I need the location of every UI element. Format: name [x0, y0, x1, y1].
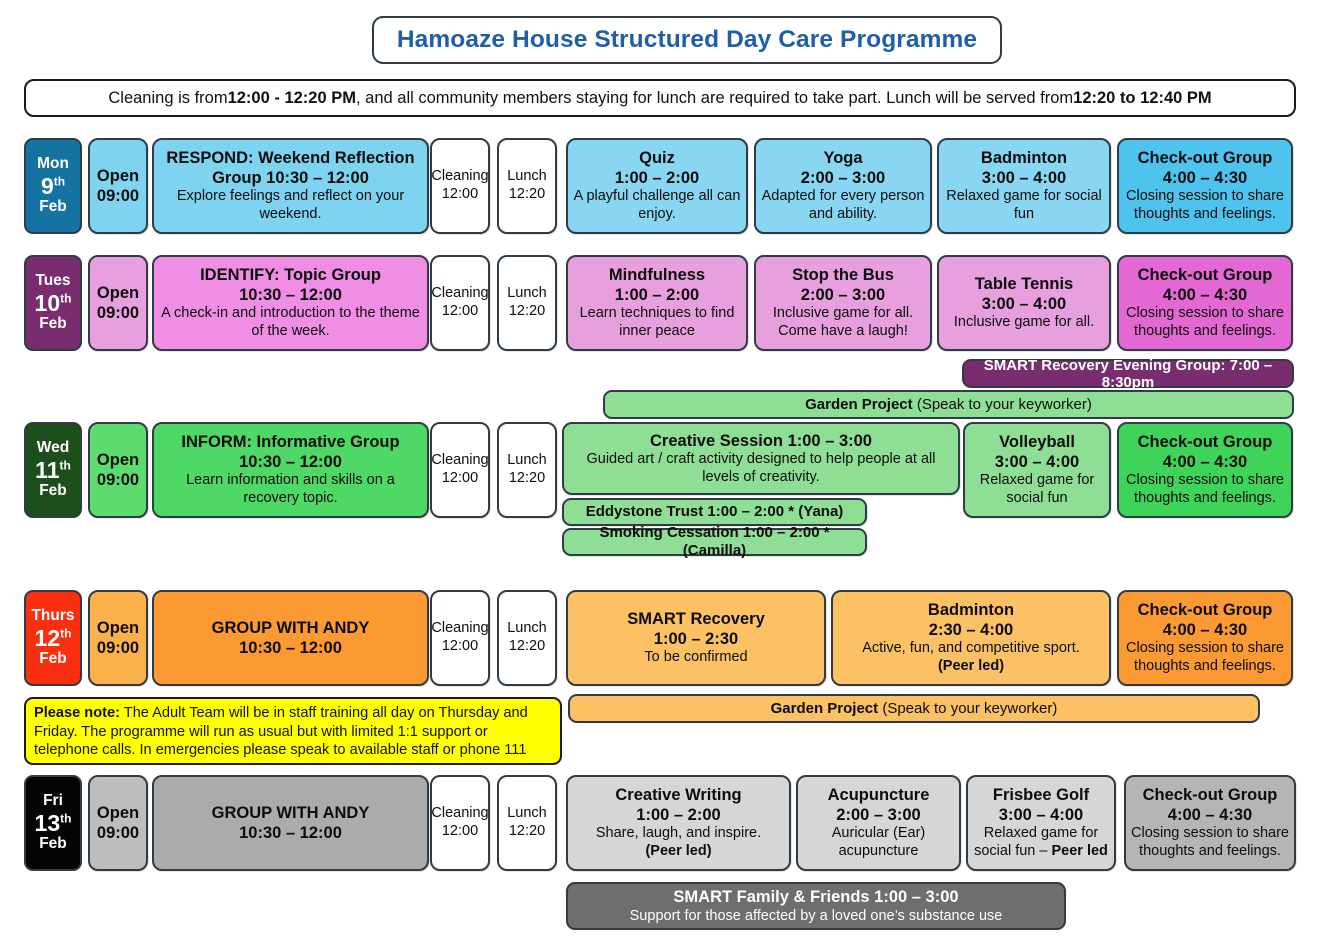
fri-open-card[interactable]: Open 09:00 [88, 775, 148, 871]
lunch-time: 12:20 [509, 823, 545, 841]
wed-subbar-smoking[interactable]: Smoking Cessation 1:00 – 2:00 * (Camilla… [562, 528, 867, 556]
wed-session-volleyball[interactable]: Volleyball 3:00 – 4:00 Relaxed game for … [963, 422, 1111, 518]
session-title: Check-out Group [1138, 600, 1273, 620]
mon-session-2[interactable]: Yoga 2:00 – 3:00 Adapted for every perso… [754, 138, 932, 234]
fri-lunch-card[interactable]: Lunch 12:20 [497, 775, 557, 871]
session-desc: Relaxed game for social fun – Peer led [973, 825, 1109, 860]
day-chip-wed: Wed 11th Feb [24, 422, 82, 518]
session-title: Quiz [639, 148, 675, 168]
day-chip-mon: Mon 9th Feb [24, 138, 82, 234]
page-title: Hamoaze House Structured Day Care Progra… [372, 16, 1002, 64]
session-time: 10:30 – 12:00 [239, 823, 342, 843]
day-chip-dow: Mon [37, 156, 69, 173]
session-title: Volleyball [999, 432, 1075, 452]
session-title: INFORM: Informative Group [181, 432, 399, 452]
open-time: 09:00 [97, 470, 139, 490]
cleaning-label: Cleaning [431, 285, 488, 303]
tue-lunch-card[interactable]: Lunch 12:20 [497, 255, 557, 351]
session-time: 2:00 – 3:00 [801, 285, 885, 305]
session-desc: Learn information and skills on a recove… [159, 472, 422, 507]
family-bar-title: SMART Family & Friends 1:00 – 3:00 [673, 887, 958, 908]
session-title: Yoga [823, 148, 862, 168]
cleaning-label: Cleaning [431, 620, 488, 638]
session-time: 4:00 – 4:30 [1163, 285, 1247, 305]
thu-cleaning-card[interactable]: Cleaning 12:00 [430, 590, 490, 686]
wed-morning-group[interactable]: INFORM: Informative Group 10:30 – 12:00 … [152, 422, 429, 518]
lunch-label: Lunch [507, 452, 547, 470]
session-desc: Auricular (Ear) acupuncture [803, 825, 954, 860]
day-chip-number: 10th [35, 291, 72, 316]
tue-checkout-group[interactable]: Check-out Group 4:00 – 4:30 Closing sess… [1117, 255, 1293, 351]
subbar-label: Eddystone Trust 1:00 – 2:00 * (Yana) [586, 503, 844, 521]
session-desc: Learn techniques to find inner peace [573, 305, 741, 340]
session-desc: Closing session to share thoughts and fe… [1131, 825, 1289, 860]
programme-poster: Hamoaze House Structured Day Care Progra… [0, 0, 1323, 946]
tue-morning-group[interactable]: IDENTIFY: Topic Group 10:30 – 12:00 A ch… [152, 255, 429, 351]
thu-session-badminton[interactable]: Badminton 2:30 – 4:00 Active, fun, and c… [831, 590, 1111, 686]
tue-session-1[interactable]: Mindfulness 1:00 – 2:00 Learn techniques… [566, 255, 748, 351]
lunch-label: Lunch [507, 620, 547, 638]
thu-garden-project-bar[interactable]: Garden Project (Speak to your keyworker) [568, 694, 1260, 723]
mon-cleaning-card[interactable]: Cleaning 12:00 [430, 138, 490, 234]
lunch-time: 12:20 [509, 470, 545, 488]
session-desc: Inclusive game for all. [954, 314, 1094, 332]
cleaning-time: 12:00 [442, 303, 478, 321]
mon-checkout-group[interactable]: Check-out Group 4:00 – 4:30 Closing sess… [1117, 138, 1293, 234]
wed-open-card[interactable]: Open 09:00 [88, 422, 148, 518]
fri-session-frisbee-golf[interactable]: Frisbee Golf 3:00 – 4:00 Relaxed game fo… [966, 775, 1116, 871]
thu-session-smart[interactable]: SMART Recovery 1:00 – 2:30 To be confirm… [566, 590, 826, 686]
garden-rest: (Speak to your keyworker) [913, 396, 1092, 413]
mon-session-1[interactable]: Quiz 1:00 – 2:00 A playful challenge all… [566, 138, 748, 234]
tue-open-card[interactable]: Open 09:00 [88, 255, 148, 351]
session-title: Acupuncture [828, 785, 930, 805]
session-desc: Closing session to share thoughts and fe… [1124, 472, 1286, 507]
garden-bold: Garden Project [771, 700, 879, 717]
session-title: Table Tennis [975, 274, 1073, 294]
thu-checkout-group[interactable]: Check-out Group 4:00 – 4:30 Closing sess… [1117, 590, 1293, 686]
tue-cleaning-card[interactable]: Cleaning 12:00 [430, 255, 490, 351]
lunch-label: Lunch [507, 285, 547, 303]
wed-cleaning-card[interactable]: Cleaning 12:00 [430, 422, 490, 518]
wed-checkout-group[interactable]: Check-out Group 4:00 – 4:30 Closing sess… [1117, 422, 1293, 518]
session-time: 4:00 – 4:30 [1163, 168, 1247, 188]
session-desc: Closing session to share thoughts and fe… [1124, 188, 1286, 223]
session-time: 3:00 – 4:00 [982, 294, 1066, 314]
session-time: 10:30 – 12:00 [239, 638, 342, 658]
tue-session-3[interactable]: Table Tennis 3:00 – 4:00 Inclusive game … [937, 255, 1111, 351]
session-time: 1:00 – 2:00 [615, 168, 699, 188]
session-time: 10:30 – 12:00 [239, 452, 342, 472]
open-time: 09:00 [97, 303, 139, 323]
session-title: IDENTIFY: Topic Group [200, 265, 381, 285]
thu-open-card[interactable]: Open 09:00 [88, 590, 148, 686]
open-label: Open [97, 166, 139, 186]
session-title: Creative Session 1:00 – 3:00 [650, 431, 872, 451]
tue-evening-smart-bar[interactable]: SMART Recovery Evening Group: 7:00 – 8:3… [962, 359, 1294, 388]
day-chip-tue: Tues 10th Feb [24, 255, 82, 351]
open-label: Open [97, 803, 139, 823]
session-time: 3:00 – 4:00 [982, 168, 1066, 188]
session-title: Creative Writing [615, 785, 741, 805]
lunch-time: 12:20 [509, 303, 545, 321]
notice-bold-lunch: 12:20 to 12:40 PM [1073, 89, 1211, 108]
session-desc: A check-in and introduction to the theme… [159, 305, 422, 340]
session-desc: Active, fun, and competitive sport. [862, 640, 1080, 658]
open-label: Open [97, 618, 139, 638]
session-time: 2:30 – 4:00 [929, 620, 1013, 640]
session-desc: To be confirmed [644, 649, 747, 667]
notice-pre: Cleaning is from [108, 89, 227, 108]
tue-session-2[interactable]: Stop the Bus 2:00 – 3:00 Inclusive game … [754, 255, 932, 351]
open-label: Open [97, 450, 139, 470]
thu-lunch-card[interactable]: Lunch 12:20 [497, 590, 557, 686]
cleaning-time: 12:00 [442, 186, 478, 204]
session-desc: Inclusive game for all. Come have a laug… [761, 305, 925, 340]
day-chip-dow: Thurs [31, 608, 74, 625]
session-time: 3:00 – 4:00 [999, 805, 1083, 825]
day-chip-number: 12th [35, 626, 72, 651]
garden-bar-text: Garden Project (Speak to your keyworker) [771, 700, 1058, 717]
day-chip-month: Feb [39, 199, 67, 216]
day-chip-month: Feb [39, 651, 67, 668]
session-title: Check-out Group [1143, 785, 1278, 805]
session-desc: Relaxed game for social fun [970, 472, 1104, 507]
lunch-label: Lunch [507, 168, 547, 186]
session-title: GROUP WITH ANDY [212, 803, 370, 823]
session-desc: Closing session to share thoughts and fe… [1124, 640, 1286, 675]
please-note-box: Please note: The Adult Team will be in s… [24, 697, 562, 765]
session-title: Frisbee Golf [993, 785, 1089, 805]
session-desc-bold: (Peer led) [645, 843, 711, 861]
session-desc: Relaxed game for social fun [944, 188, 1104, 223]
day-chip-number: 11th [35, 458, 71, 483]
cleaning-time: 12:00 [442, 638, 478, 656]
day-chip-month: Feb [39, 483, 67, 500]
open-time: 09:00 [97, 638, 139, 658]
thu-morning-group[interactable]: GROUP WITH ANDY 10:30 – 12:00 [152, 590, 429, 686]
cleaning-label: Cleaning [431, 168, 488, 186]
mon-open-card[interactable]: Open 09:00 [88, 138, 148, 234]
session-time: 4:00 – 4:30 [1168, 805, 1252, 825]
session-time: 3:00 – 4:00 [995, 452, 1079, 472]
family-bar-desc: Support for those affected by a loved on… [630, 907, 1003, 925]
day-chip-month: Feb [39, 836, 67, 853]
session-title: Badminton [981, 148, 1067, 168]
session-desc-bold: (Peer led) [938, 658, 1004, 676]
session-desc: Guided art / craft activity designed to … [569, 451, 953, 486]
day-chip-month: Feb [39, 316, 67, 333]
cleaning-time: 12:00 [442, 823, 478, 841]
lunch-time: 12:20 [509, 186, 545, 204]
notice-bold-cleaning: 12:00 - 12:20 PM [228, 89, 356, 108]
session-time: 4:00 – 4:30 [1163, 620, 1247, 640]
wed-creative-session[interactable]: Creative Session 1:00 – 3:00 Guided art … [562, 422, 960, 495]
session-time: 2:00 – 3:00 [836, 805, 920, 825]
mon-session-3[interactable]: Badminton 3:00 – 4:00 Relaxed game for s… [937, 138, 1111, 234]
session-time: 10:30 – 12:00 [239, 285, 342, 305]
session-desc: Share, laugh, and inspire. [596, 825, 761, 843]
garden-bold: Garden Project [805, 396, 913, 413]
session-time: 1:00 – 2:30 [654, 629, 738, 649]
day-chip-dow: Tues [35, 273, 70, 290]
session-title: RESPOND: Weekend Reflection [166, 148, 414, 168]
cleaning-lunch-notice: Cleaning is from 12:00 - 12:20 PM, and a… [24, 79, 1296, 117]
subbar-label: Smoking Cessation 1:00 – 2:00 * (Camilla… [569, 524, 860, 561]
session-time: 1:00 – 2:00 [615, 285, 699, 305]
session-title: SMART Recovery [627, 609, 765, 629]
day-chip-fri: Fri 13th Feb [24, 775, 82, 871]
day-chip-dow: Fri [43, 793, 63, 810]
day-chip-number: 9th [41, 174, 65, 199]
wed-lunch-card[interactable]: Lunch 12:20 [497, 422, 557, 518]
session-desc: Closing session to share thoughts and fe… [1124, 305, 1286, 340]
fri-cleaning-card[interactable]: Cleaning 12:00 [430, 775, 490, 871]
session-title: Badminton [928, 600, 1014, 620]
fri-morning-group[interactable]: GROUP WITH ANDY 10:30 – 12:00 [152, 775, 429, 871]
day-chip-number: 13th [35, 811, 72, 836]
wed-garden-project-bar[interactable]: Garden Project (Speak to your keyworker) [603, 390, 1294, 419]
garden-bar-text: Garden Project (Speak to your keyworker) [805, 396, 1092, 413]
cleaning-label: Cleaning [431, 805, 488, 823]
day-chip-dow: Wed [37, 440, 69, 457]
session-title: Mindfulness [609, 265, 705, 285]
fri-session-acupuncture[interactable]: Acupuncture 2:00 – 3:00 Auricular (Ear) … [796, 775, 961, 871]
mon-lunch-card[interactable]: Lunch 12:20 [497, 138, 557, 234]
fri-checkout-group[interactable]: Check-out Group 4:00 – 4:30 Closing sess… [1124, 775, 1296, 871]
session-time: 4:00 – 4:30 [1163, 452, 1247, 472]
session-time: Group 10:30 – 12:00 [212, 168, 369, 188]
fri-smart-family-friends-bar[interactable]: SMART Family & Friends 1:00 – 3:00 Suppo… [566, 882, 1066, 930]
session-time: 2:00 – 3:00 [801, 168, 885, 188]
cleaning-time: 12:00 [442, 470, 478, 488]
session-title: Check-out Group [1138, 265, 1273, 285]
session-time: 1:00 – 2:00 [636, 805, 720, 825]
session-title: Check-out Group [1138, 148, 1273, 168]
evening-bar-label: SMART Recovery Evening Group: 7:00 – 8:3… [970, 357, 1286, 391]
mon-morning-group[interactable]: RESPOND: Weekend Reflection Group 10:30 … [152, 138, 429, 234]
cleaning-label: Cleaning [431, 452, 488, 470]
lunch-time: 12:20 [509, 638, 545, 656]
garden-rest: (Speak to your keyworker) [878, 700, 1057, 717]
session-title: GROUP WITH ANDY [212, 618, 370, 638]
session-desc: Adapted for every person and ability. [761, 188, 925, 223]
session-desc: A playful challenge all can enjoy. [573, 188, 741, 223]
please-note-bold: Please note: [34, 705, 120, 721]
fri-session-creative-writing[interactable]: Creative Writing 1:00 – 2:00 Share, laug… [566, 775, 791, 871]
lunch-label: Lunch [507, 805, 547, 823]
open-time: 09:00 [97, 823, 139, 843]
notice-mid: , and all community members staying for … [356, 89, 1073, 108]
session-title: Check-out Group [1138, 432, 1273, 452]
open-time: 09:00 [97, 186, 139, 206]
day-chip-thu: Thurs 12th Feb [24, 590, 82, 686]
session-desc: Explore feelings and reflect on your wee… [159, 188, 422, 223]
session-title: Stop the Bus [792, 265, 894, 285]
wed-subbar-eddystone[interactable]: Eddystone Trust 1:00 – 2:00 * (Yana) [562, 498, 867, 526]
open-label: Open [97, 283, 139, 303]
